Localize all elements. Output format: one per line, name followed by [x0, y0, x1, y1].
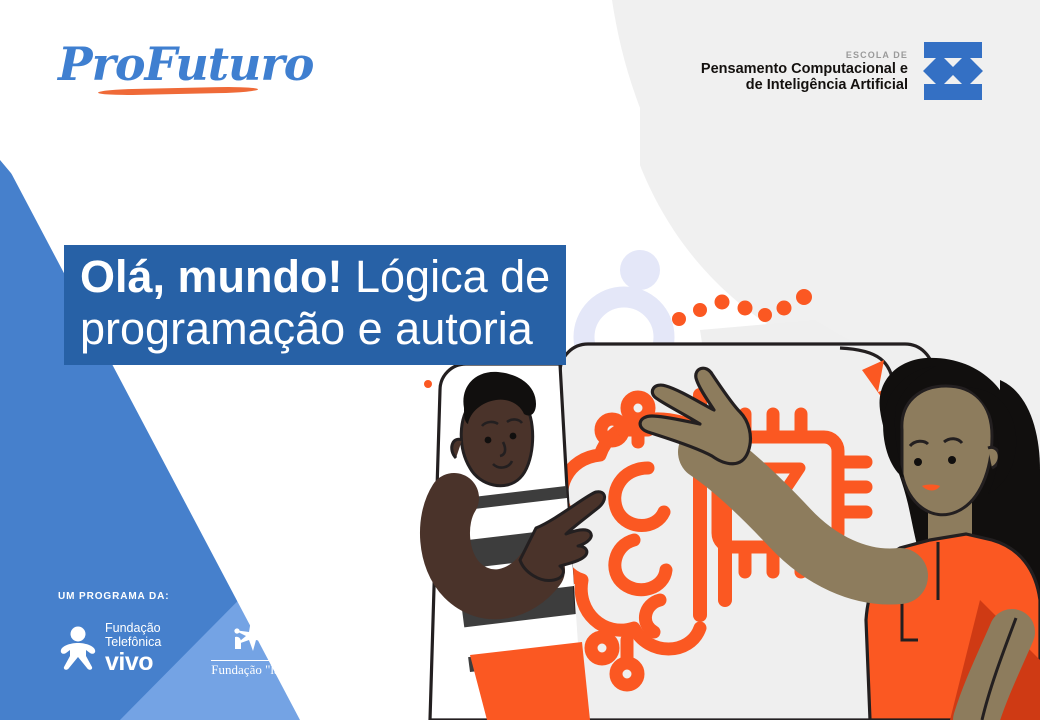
la-caixa-star-icon	[211, 618, 283, 652]
slide-title-line-2: programação e autoria	[80, 303, 550, 355]
escola-line-2: de Inteligência Artificial	[701, 77, 908, 94]
profuturo-logo: ProFuturo	[58, 38, 273, 100]
slide-title-line-1: Olá, mundo! Lógica de	[80, 251, 550, 303]
escola-line-1: Pensamento Computacional e	[701, 61, 908, 78]
man-pants	[470, 642, 590, 720]
telefonica-person-icon	[58, 626, 98, 670]
telefonica-line-2: Telefônica	[105, 635, 161, 649]
vivo-wordmark: vivo	[105, 649, 161, 675]
slide-title-rest: Lógica de	[343, 251, 551, 302]
profuturo-wordmark: ProFuturo	[58, 38, 273, 90]
escola-logo-text: ESCOLA DE Pensamento Computacional e de …	[701, 49, 908, 94]
lavender-circle-small	[620, 250, 660, 290]
telefonica-wordmark: Fundação Telefônica vivo	[105, 621, 161, 675]
fundacao-telefonica-vivo-logo: Fundação Telefônica vivo	[58, 621, 161, 675]
slide-canvas: ProFuturo ESCOLA DE Pensamento Computaci…	[0, 0, 1040, 720]
slide-title-emphasis: Olá, mundo!	[80, 251, 343, 302]
escola-eyebrow: ESCOLA DE	[701, 49, 908, 61]
escola-diamond-mark	[922, 40, 984, 102]
escola-logo: ESCOLA DE Pensamento Computacional e de …	[701, 40, 984, 102]
orange-dot-wave	[672, 289, 812, 326]
telefonica-line-1: Fundação	[105, 621, 161, 635]
footer-sponsors: UM PROGRAMA DA: Fundação Telefônica vivo	[58, 590, 378, 678]
fundacao-la-caixa-logo: Fundação "la Caixa"	[211, 618, 318, 678]
sponsor-logo-row: Fundação Telefônica vivo Fundação "la Ca…	[58, 618, 378, 678]
slide-title-banner: Olá, mundo! Lógica de programação e auto…	[64, 245, 566, 365]
program-label: UM PROGRAMA DA:	[58, 590, 378, 604]
la-caixa-wordmark: Fundação "la Caixa"	[211, 660, 318, 678]
